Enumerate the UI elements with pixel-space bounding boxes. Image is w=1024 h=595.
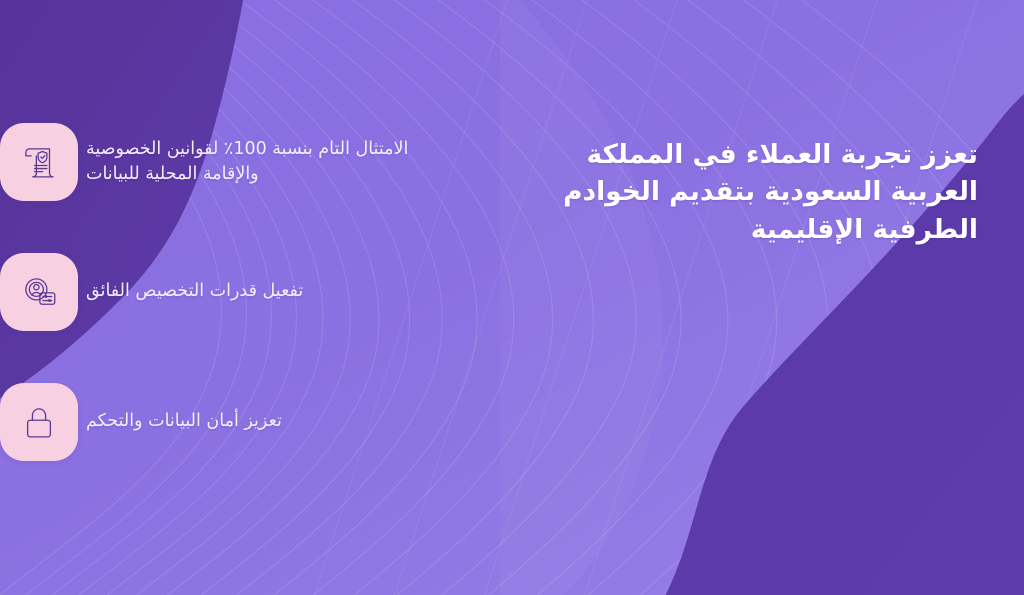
slide-content: تعزز تجربة العملاء في المملكة العربية ال… — [0, 0, 1024, 595]
user-target-settings-icon — [18, 271, 60, 313]
padlock-icon-tile — [0, 383, 78, 461]
user-target-settings-icon-tile — [0, 253, 78, 331]
feature-item-compliance: الامتثال التام بنسبة 100٪ لقوانين الخصوص… — [0, 123, 480, 201]
scroll-shield-icon — [18, 141, 60, 183]
feature-list: الامتثال التام بنسبة 100٪ لقوانين الخصوص… — [0, 123, 480, 461]
feature-item-personalization: تفعيل قدرات التخصيص الفائق — [0, 253, 480, 331]
slide-canvas: تعزز تجربة العملاء في المملكة العربية ال… — [0, 0, 1024, 595]
scroll-shield-icon-tile — [0, 123, 78, 201]
padlock-icon — [18, 401, 60, 443]
slide-heading: تعزز تجربة العملاء في المملكة العربية ال… — [558, 136, 978, 249]
feature-label-personalization: تفعيل قدرات التخصيص الفائق — [86, 279, 438, 304]
feature-label-security: تعزيز أمان البيانات والتحكم — [86, 409, 438, 434]
feature-item-security: تعزيز أمان البيانات والتحكم — [0, 383, 480, 461]
feature-label-compliance: الامتثال التام بنسبة 100٪ لقوانين الخصوص… — [86, 137, 438, 188]
